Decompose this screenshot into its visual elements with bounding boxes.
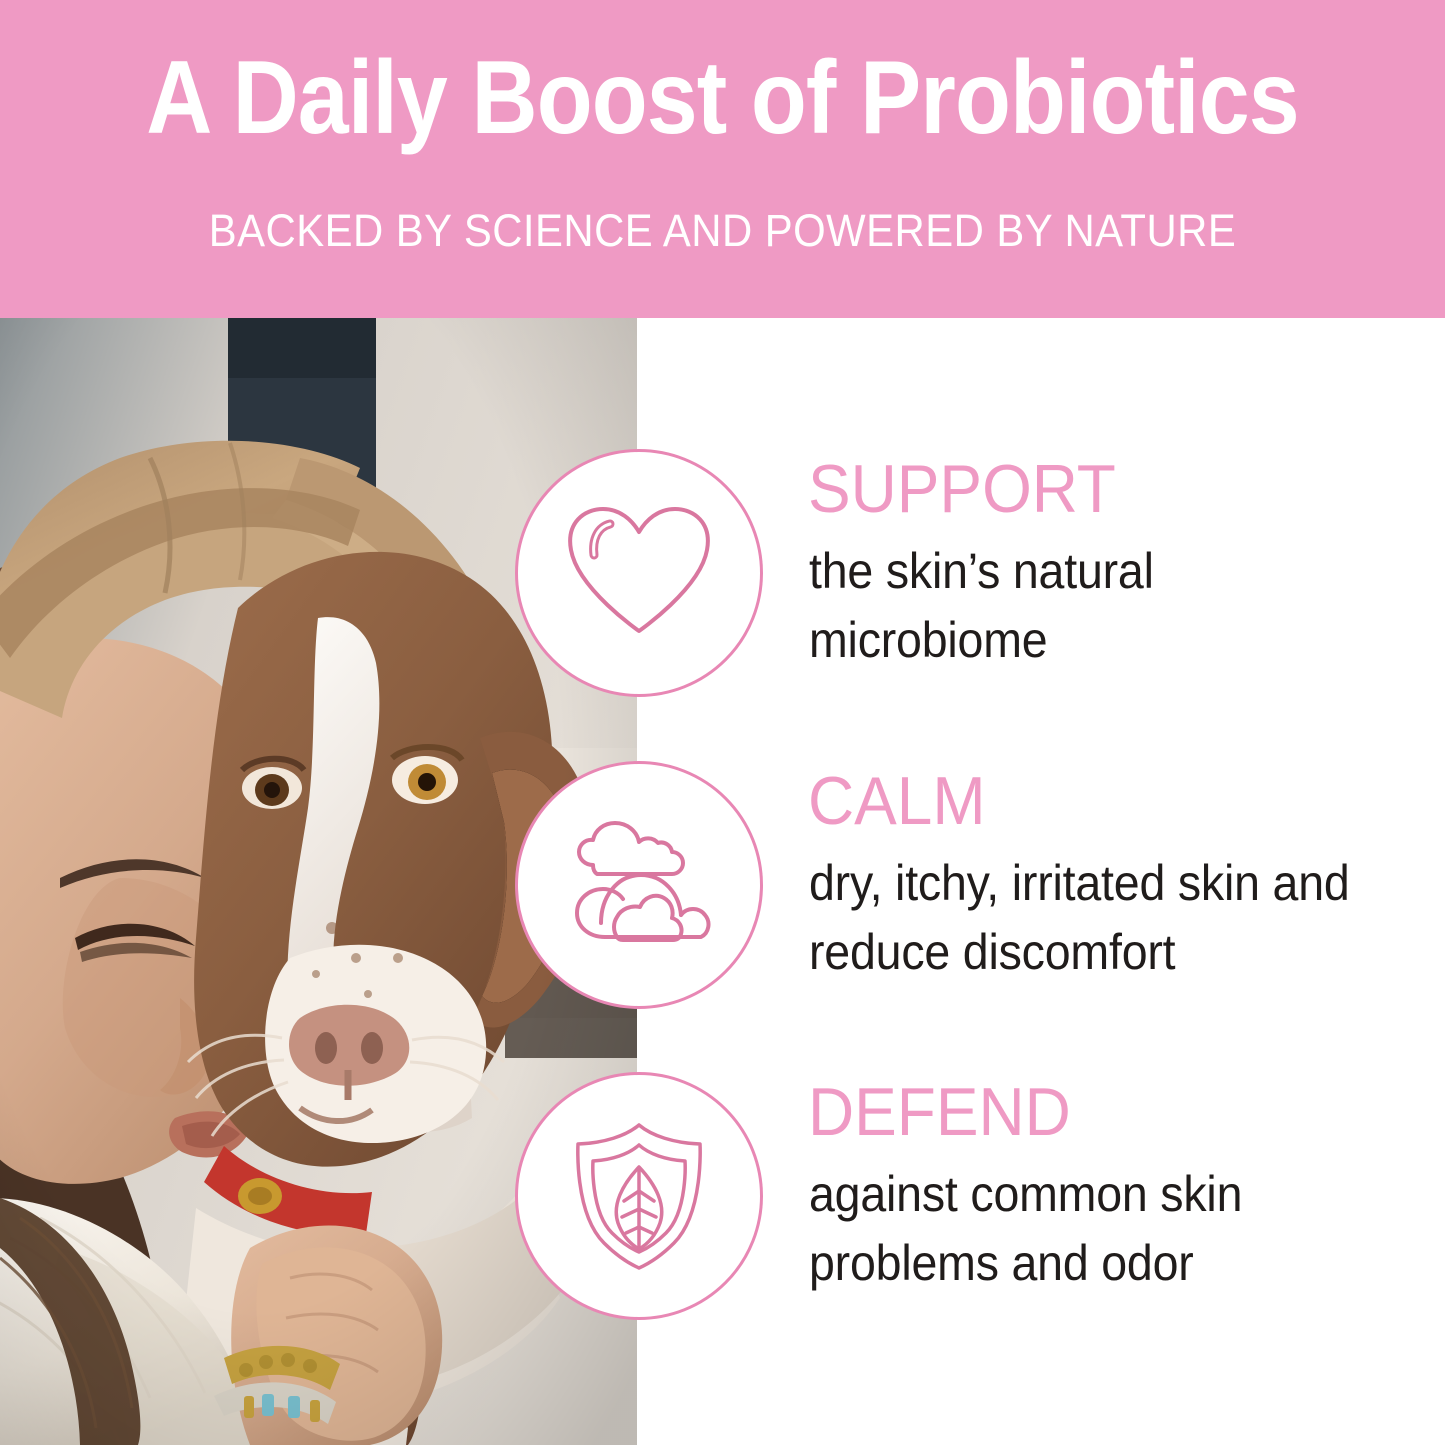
- feature-icon-badge-support: [515, 449, 763, 697]
- feature-title: CALM: [808, 765, 986, 837]
- page-subtitle: BACKED BY SCIENCE AND POWERED BY NATURE: [51, 205, 1395, 257]
- promo-banner: A Daily Boost of Probiotics BACKED BY SC…: [0, 0, 1445, 1445]
- heart-icon: [564, 503, 714, 643]
- feature-description: dry, itchy, irritated skin and reduce di…: [809, 849, 1395, 987]
- feature-title: DEFEND: [808, 1076, 1071, 1148]
- feature-title: SUPPORT: [808, 453, 1116, 525]
- feature-description: the skin’s natural microbiome: [809, 537, 1395, 675]
- page-title: A Daily Boost of Probiotics: [87, 42, 1359, 154]
- feature-description: against common skin problems and odor: [809, 1160, 1395, 1298]
- feature-icon-badge-calm: [515, 761, 763, 1009]
- shield-leaf-icon: [564, 1119, 714, 1273]
- clouds-icon: [559, 819, 719, 951]
- header-band: A Daily Boost of Probiotics BACKED BY SC…: [0, 0, 1445, 318]
- feature-icon-badge-defend: [515, 1072, 763, 1320]
